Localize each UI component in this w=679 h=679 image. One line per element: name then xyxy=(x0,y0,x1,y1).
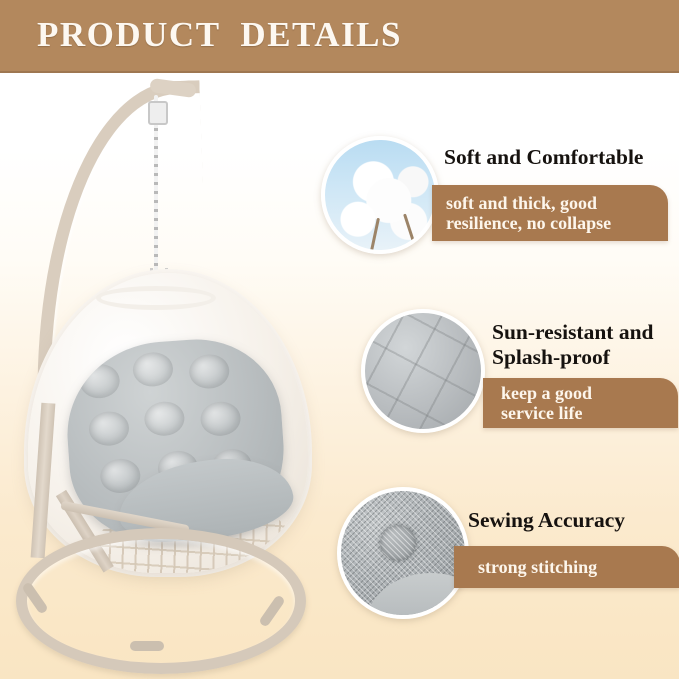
fabric-button-tuft xyxy=(380,525,416,561)
feature-title: Sewing Accuracy xyxy=(468,508,678,533)
feature-item-sewing-accuracy: Sewing Accuracy strong stitching xyxy=(0,0,679,679)
feature-ribbon: strong stitching xyxy=(454,546,679,588)
feature-ribbon-text: strong stitching xyxy=(478,557,679,577)
product-details-page: PRODUCT DETAILS xyxy=(0,0,679,679)
fabric-stitching-photo xyxy=(337,487,469,619)
